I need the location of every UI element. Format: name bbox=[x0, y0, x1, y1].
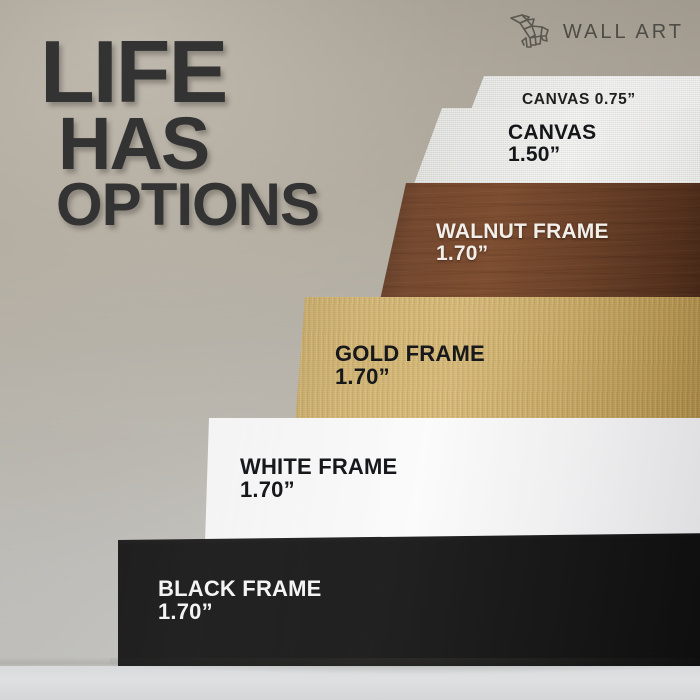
canvas-150-label: CANVAS 1.50” bbox=[508, 122, 596, 166]
product-slab-white-frame[interactable]: WHITE FRAME 1.70” bbox=[205, 418, 700, 543]
canvas-075-label: CANVAS 0.75” bbox=[522, 92, 636, 108]
white-frame-depth: 1.70” bbox=[240, 479, 397, 502]
canvas-150-depth: 1.50” bbox=[508, 144, 596, 166]
walnut-frame-depth: 1.70” bbox=[436, 243, 609, 265]
page-title: LIFE HAS OPTIONS bbox=[40, 34, 319, 231]
walnut-frame-label: WALNUT FRAME 1.70” bbox=[436, 221, 609, 265]
brand-wordmark: WALL ART bbox=[563, 21, 684, 44]
origami-goat-icon bbox=[508, 14, 554, 50]
headline-line-3: OPTIONS bbox=[56, 179, 319, 231]
gold-frame-name: GOLD FRAME bbox=[335, 343, 485, 366]
black-frame-name: BLACK FRAME bbox=[158, 578, 322, 601]
black-frame-depth: 1.70” bbox=[158, 601, 322, 624]
walnut-frame-name: WALNUT FRAME bbox=[436, 221, 609, 243]
headline-line-1: LIFE bbox=[40, 34, 325, 110]
canvas-075-name: CANVAS 0.75” bbox=[522, 92, 636, 108]
white-frame-label: WHITE FRAME 1.70” bbox=[240, 456, 397, 502]
black-frame-label: BLACK FRAME 1.70” bbox=[158, 578, 322, 624]
brand-logo[interactable]: WALL ART bbox=[508, 14, 684, 50]
contact-shadow bbox=[110, 658, 700, 674]
gold-frame-label: GOLD FRAME 1.70” bbox=[335, 343, 485, 389]
headline-line-2: HAS bbox=[58, 112, 319, 176]
canvas-150-name: CANVAS bbox=[508, 122, 596, 144]
white-frame-name: WHITE FRAME bbox=[240, 456, 397, 479]
gold-frame-depth: 1.70” bbox=[335, 366, 485, 389]
product-slab-gold-frame[interactable]: GOLD FRAME 1.70” bbox=[295, 297, 700, 424]
product-options-poster: WALL ART LIFE HAS OPTIONS CANVAS 0.75” C… bbox=[0, 0, 700, 700]
product-slab-walnut-frame[interactable]: WALNUT FRAME 1.70” bbox=[380, 183, 700, 300]
product-slab-black-frame[interactable]: BLACK FRAME 1.70” bbox=[118, 533, 700, 666]
